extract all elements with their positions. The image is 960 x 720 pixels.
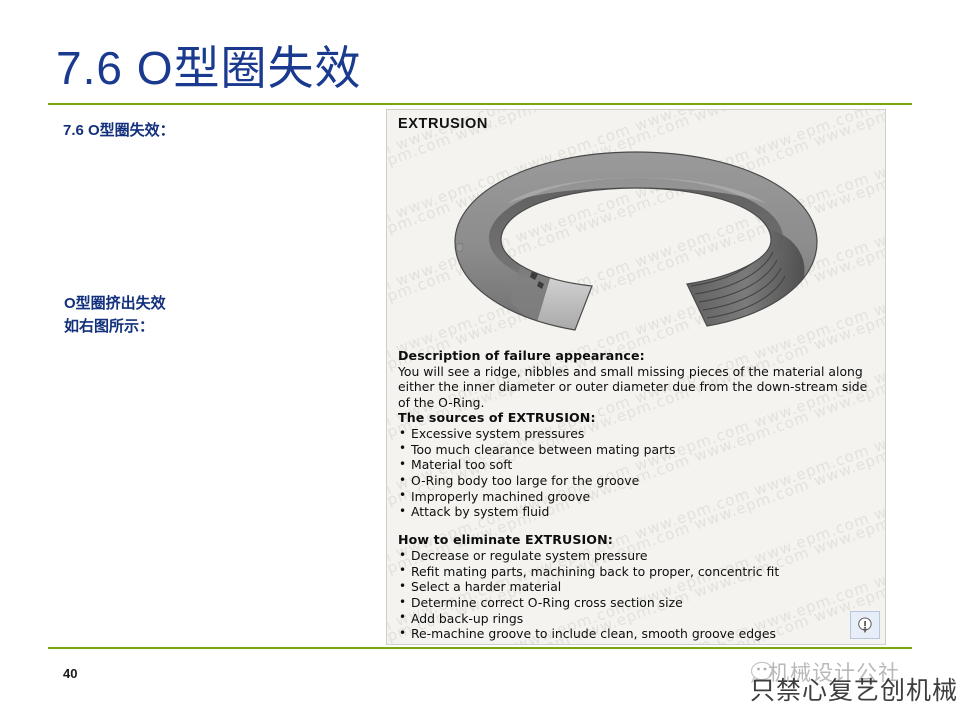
howto-heading: How to eliminate EXTRUSION:: [398, 532, 875, 547]
subheading: 7.6 O型圈失效：: [63, 119, 175, 140]
page-title: 7.6 O型圈失效: [56, 44, 362, 92]
sources-list: Excessive system pressures Too much clea…: [398, 426, 875, 520]
list-item: Improperly machined groove: [398, 489, 875, 505]
howto-list: Decrease or regulate system pressure Ref…: [398, 548, 875, 645]
body-note: O型圈挤出失效 如右图所示：: [64, 292, 166, 339]
description-block: Description of failure appearance: You w…: [398, 348, 875, 410]
info-badge[interactable]: [850, 611, 880, 639]
description-heading: Description of failure appearance:: [398, 348, 875, 363]
list-item: Attack by system fluid: [398, 504, 875, 520]
list-item: Refit mating parts, machining back to pr…: [398, 564, 875, 580]
list-item: Select a harder material: [398, 579, 875, 595]
body-note-line-2: 如右图所示：: [64, 315, 166, 338]
list-item: Re-machine groove to include clean, smoo…: [398, 626, 875, 642]
list-item: Excessive system pressures: [398, 426, 875, 442]
divider-bottom: [48, 647, 912, 649]
howto-block: How to eliminate EXTRUSION: Decrease or …: [398, 532, 875, 645]
list-item: Replace O-Ring with different type of se…: [398, 642, 875, 645]
grab-hand-icon: [453, 240, 467, 254]
divider-top: [48, 103, 912, 105]
corner-watermark: 机械设计公社 只禁心复艺创机械: [744, 655, 960, 713]
list-item: Determine correct O-Ring cross section s…: [398, 595, 875, 611]
watermark-text-dark: 只禁心复艺创机械: [750, 671, 958, 707]
description-body: You will see a ridge, nibbles and small …: [398, 364, 875, 410]
list-item: Material too soft: [398, 457, 875, 473]
page-number: 40: [63, 666, 77, 681]
info-exclamation-icon: [856, 616, 874, 634]
list-item: Decrease or regulate system pressure: [398, 548, 875, 564]
list-item: Add back-up rings: [398, 611, 875, 627]
list-item: Too much clearance between mating parts: [398, 442, 875, 458]
body-note-line-1: O型圈挤出失效: [64, 292, 166, 315]
figure-panel: www.epm.com www.epm.com www.epm.com www.…: [386, 109, 886, 645]
sources-heading: The sources of EXTRUSION:: [398, 410, 875, 425]
sources-block: The sources of EXTRUSION: Excessive syst…: [398, 410, 875, 520]
figure-header: EXTRUSION: [398, 116, 488, 132]
list-item: O-Ring body too large for the groove: [398, 473, 875, 489]
